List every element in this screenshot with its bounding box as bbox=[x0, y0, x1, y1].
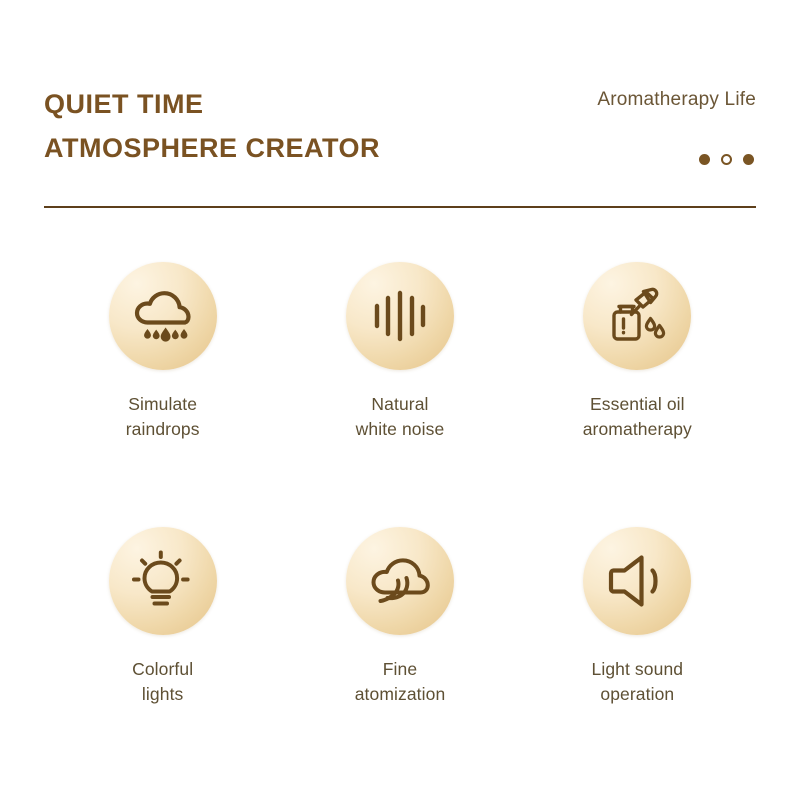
page-header: QUIET TIME ATMOSPHERE CREATOR Aromathera… bbox=[44, 82, 756, 202]
feature-item-colorful-lights[interactable]: Colorful lights bbox=[44, 527, 281, 792]
feature-icon-badge bbox=[583, 527, 691, 635]
page-title-line-1: QUIET TIME bbox=[44, 82, 380, 126]
page-title: QUIET TIME ATMOSPHERE CREATOR bbox=[44, 82, 380, 170]
feature-label: Simulate raindrops bbox=[126, 392, 200, 442]
essential-oil-dropper-icon bbox=[606, 285, 668, 347]
feature-label: Natural white noise bbox=[356, 392, 445, 442]
feature-label: Colorful lights bbox=[132, 657, 193, 707]
sound-wave-icon bbox=[371, 287, 429, 345]
tagline: Aromatherapy Life bbox=[597, 89, 756, 111]
feature-icon-badge bbox=[583, 262, 691, 370]
mist-cloud-icon bbox=[368, 552, 432, 610]
feature-item-essential-oil-aromatherapy[interactable]: Essential oil aromatherapy bbox=[519, 262, 756, 527]
product-feature-page: QUIET TIME ATMOSPHERE CREATOR Aromathera… bbox=[0, 0, 800, 807]
rain-cloud-icon bbox=[131, 286, 195, 346]
feature-label: Essential oil aromatherapy bbox=[583, 392, 692, 442]
feature-label: Light sound operation bbox=[592, 657, 684, 707]
feature-item-fine-atomization[interactable]: Fine atomization bbox=[281, 527, 518, 792]
pagination-dot-3[interactable] bbox=[743, 154, 754, 165]
pagination-dot-2[interactable] bbox=[721, 154, 732, 165]
feature-item-simulate-raindrops[interactable]: Simulate raindrops bbox=[44, 262, 281, 527]
light-bulb-icon bbox=[132, 550, 194, 612]
speaker-sound-icon bbox=[607, 552, 667, 610]
feature-item-natural-white-noise[interactable]: Natural white noise bbox=[281, 262, 518, 527]
feature-item-light-sound-operation[interactable]: Light sound operation bbox=[519, 527, 756, 792]
feature-grid: Simulate raindrops Natural white noise bbox=[44, 262, 756, 792]
page-title-line-2: ATMOSPHERE CREATOR bbox=[44, 126, 380, 170]
header-divider bbox=[44, 206, 756, 208]
pagination-dot-1[interactable] bbox=[699, 154, 710, 165]
feature-icon-badge bbox=[346, 262, 454, 370]
feature-icon-badge bbox=[109, 527, 217, 635]
feature-icon-badge bbox=[109, 262, 217, 370]
feature-icon-badge bbox=[346, 527, 454, 635]
feature-label: Fine atomization bbox=[355, 657, 446, 707]
pagination-dots[interactable] bbox=[699, 154, 754, 165]
